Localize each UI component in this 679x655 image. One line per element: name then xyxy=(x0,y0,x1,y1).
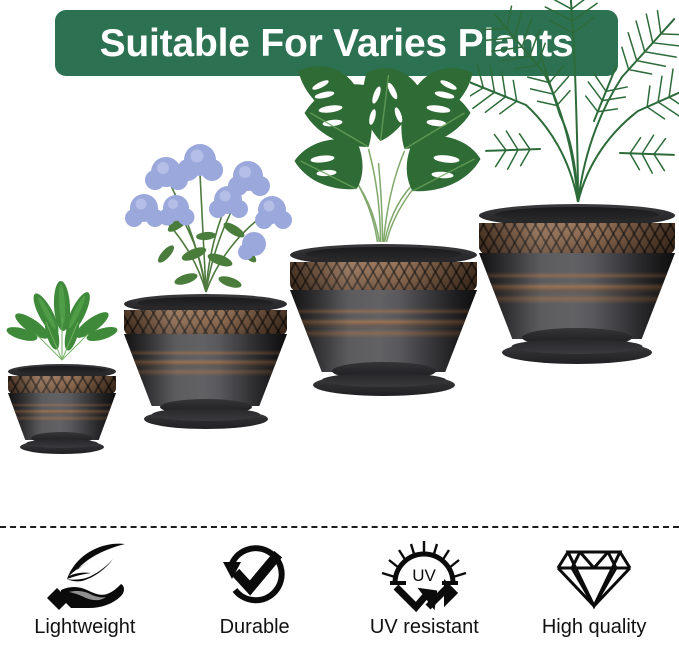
planter-large xyxy=(290,244,477,396)
planter-group-xlarge xyxy=(479,204,675,524)
check-cycle-icon xyxy=(217,540,293,612)
planter-small xyxy=(8,364,116,454)
feature-label: High quality xyxy=(542,616,647,638)
peace-lily-plant xyxy=(6,278,118,364)
feature-uv-resistant: UV UV resistant xyxy=(340,540,510,655)
uv-sun-icon: UV xyxy=(378,540,470,612)
feature-row: Lightweight Durable xyxy=(0,540,679,655)
diamond-icon xyxy=(554,540,634,612)
page-title: Suitable For Varies Plants xyxy=(100,24,574,63)
planter-group-medium xyxy=(124,294,287,524)
hand-feather-icon xyxy=(39,540,131,612)
product-scene xyxy=(0,84,679,524)
purple-flowering-plant xyxy=(108,104,304,294)
section-divider xyxy=(0,526,679,528)
feature-durable: Durable xyxy=(170,540,340,655)
feature-high-quality: High quality xyxy=(509,540,679,655)
planter-group-small xyxy=(8,364,116,524)
feature-label: UV resistant xyxy=(370,616,479,638)
planter-group-large xyxy=(290,244,477,524)
uv-badge-text: UV xyxy=(413,566,437,585)
feature-lightweight: Lightweight xyxy=(0,540,170,655)
planter-xlarge xyxy=(479,204,675,364)
feature-label: Lightweight xyxy=(34,616,135,638)
planter-medium xyxy=(124,294,287,429)
feature-label: Durable xyxy=(220,616,290,638)
header-banner: Suitable For Varies Plants xyxy=(55,10,618,76)
